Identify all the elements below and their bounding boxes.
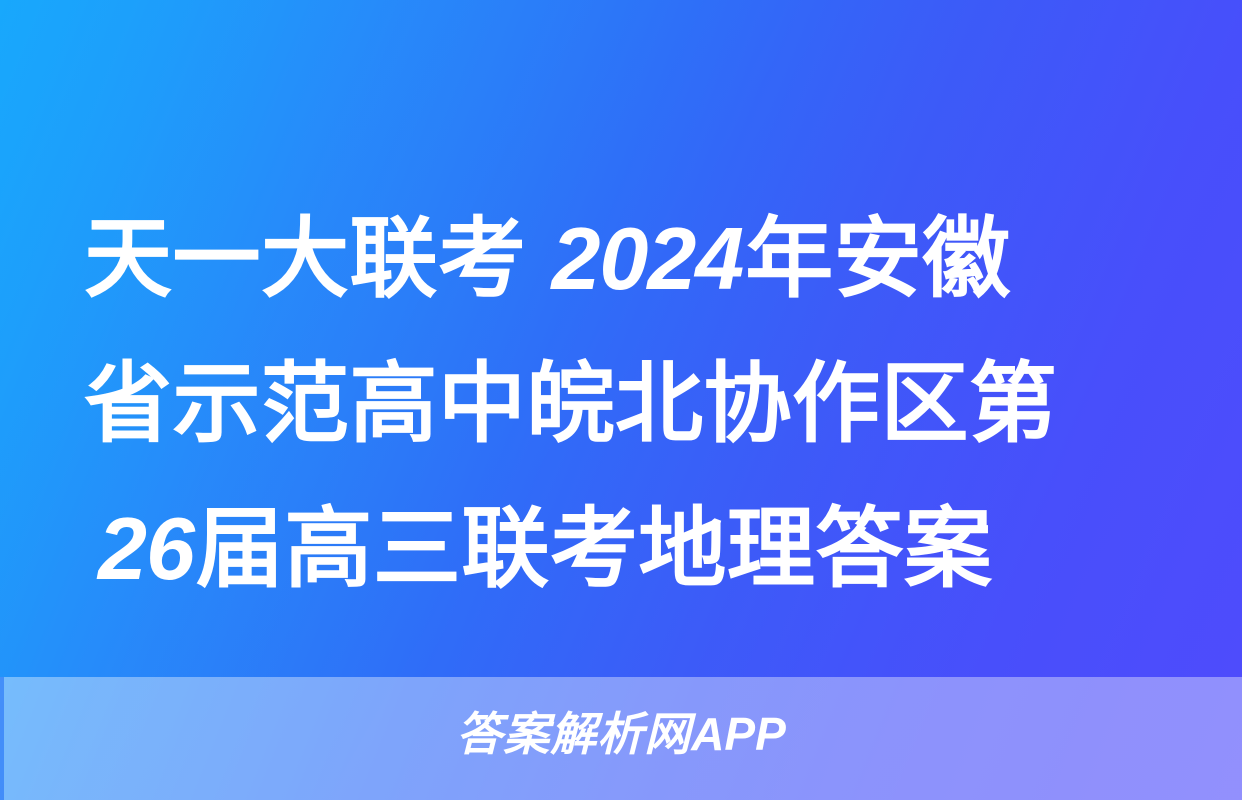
watermark-brand-latin: APP — [691, 708, 786, 760]
title-line-3-cjk-tail: 届高三联考地理答案 — [196, 499, 993, 598]
watermark-brand-cjk: 答案解析网 — [456, 708, 691, 760]
title-line-1-cjk-lead: 天一大联考 — [84, 209, 551, 308]
title-line-1-cjk-tail: 年安徽 — [745, 209, 1011, 308]
title-line-2: 省示范高中皖北协作区第 — [84, 331, 1168, 476]
page-title: 天一大联考 2024年安徽 省示范高中皖北协作区第 26届高三联考地理答案 — [84, 186, 1168, 621]
watermark-brand: 答案解析网APP — [0, 706, 1242, 762]
title-line-3: 26届高三联考地理答案 — [84, 476, 1168, 621]
title-line-2-cjk-lead: 省示范高中皖北协作区第 — [84, 354, 1058, 453]
promo-card: 天一大联考 2024年安徽 省示范高中皖北协作区第 26届高三联考地理答案 答案… — [0, 0, 1242, 800]
title-line-1-latin: 2024 — [551, 209, 745, 308]
title-line-3-latin: 26 — [98, 499, 196, 598]
title-line-1: 天一大联考 2024年安徽 — [84, 186, 1168, 331]
